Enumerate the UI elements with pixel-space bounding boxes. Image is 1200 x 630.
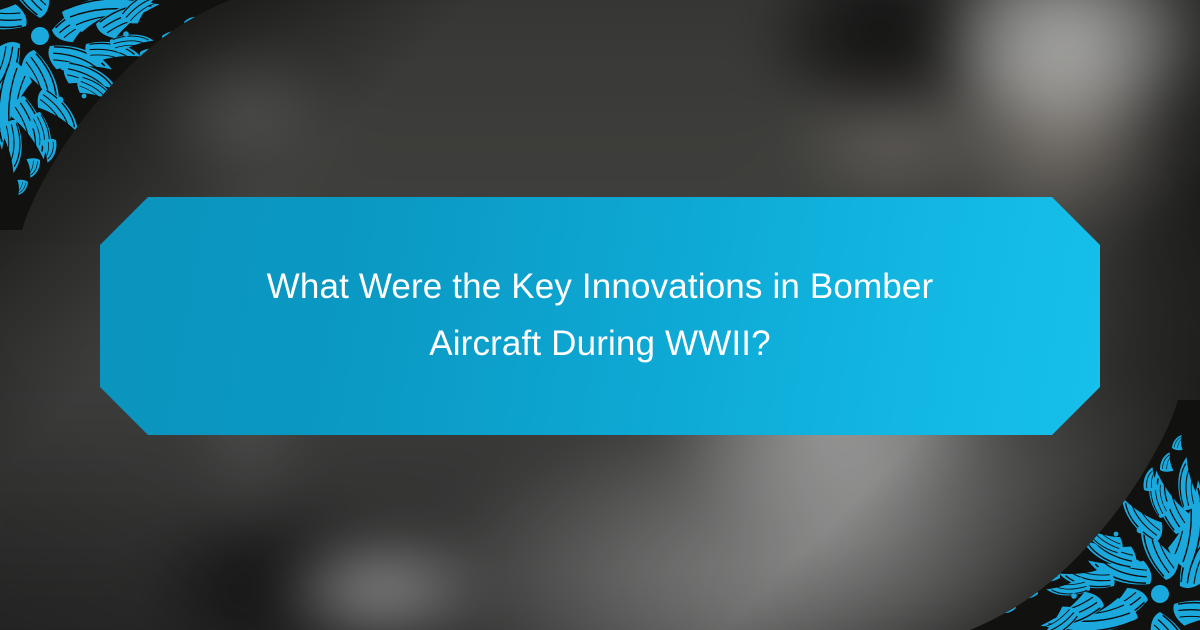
title-banner: What Were the Key Innovations in Bomber …: [100, 197, 1100, 435]
page-title: What Were the Key Innovations in Bomber …: [240, 259, 960, 372]
social-share-card: What Were the Key Innovations in Bomber …: [0, 0, 1200, 630]
